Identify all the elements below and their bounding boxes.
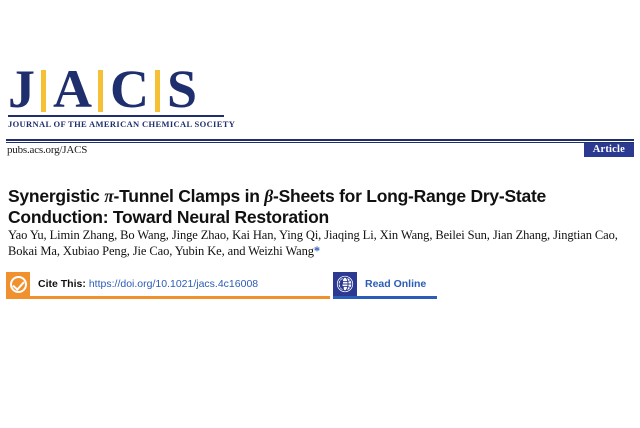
corresponding-author-mark: * [314, 244, 320, 258]
journal-url[interactable]: pubs.acs.org/JACS [7, 144, 87, 156]
cite-this-text: Cite This:https://doi.org/10.1021/jacs.4… [30, 278, 258, 290]
read-online-bar[interactable]: Read Online [333, 272, 437, 299]
logo-letter-j: J [8, 64, 34, 114]
logo-divider-bar [98, 70, 103, 112]
running-head-rule-bottom [6, 142, 634, 143]
globe-icon [333, 272, 357, 296]
check-circle-shape [10, 276, 27, 293]
logo-letter-a: A [53, 64, 91, 114]
author-names: Yao Yu, Limin Zhang, Bo Wang, Jinge Zhao… [8, 228, 618, 258]
doi-link[interactable]: https://doi.org/10.1021/jacs.4c16008 [86, 278, 258, 290]
title-greek-pi: π [104, 186, 113, 206]
title-segment-1: Synergistic [8, 186, 104, 206]
logo-divider-bar [155, 70, 160, 112]
article-type-badge: Article [584, 143, 634, 157]
check-mark-shape [12, 278, 25, 291]
logo-letter-c: C [110, 64, 148, 114]
cite-this-bar[interactable]: Cite This:https://doi.org/10.1021/jacs.4… [6, 272, 330, 299]
jacs-logo: J A C S [8, 64, 238, 114]
logo-letter-s: S [167, 64, 196, 114]
page-title: Synergistic π-Tunnel Clamps in β-Sheets … [8, 186, 632, 228]
jacs-masthead: J A C S JOURNAL OF THE AMERICAN CHEMICAL… [8, 64, 238, 136]
cite-this-label: Cite This: [38, 278, 86, 290]
title-greek-beta: β [264, 186, 273, 206]
read-online-label[interactable]: Read Online [357, 278, 426, 290]
check-circle-icon [6, 272, 30, 296]
author-list: Yao Yu, Limin Zhang, Bo Wang, Jinge Zhao… [8, 228, 632, 259]
title-segment-2: -Tunnel Clamps in [114, 186, 265, 206]
journal-subtitle: JOURNAL OF THE AMERICAN CHEMICAL SOCIETY [8, 119, 224, 129]
running-head-rule-top [6, 139, 634, 141]
globe-icon-svg [336, 275, 354, 293]
logo-divider-bar [41, 70, 46, 112]
